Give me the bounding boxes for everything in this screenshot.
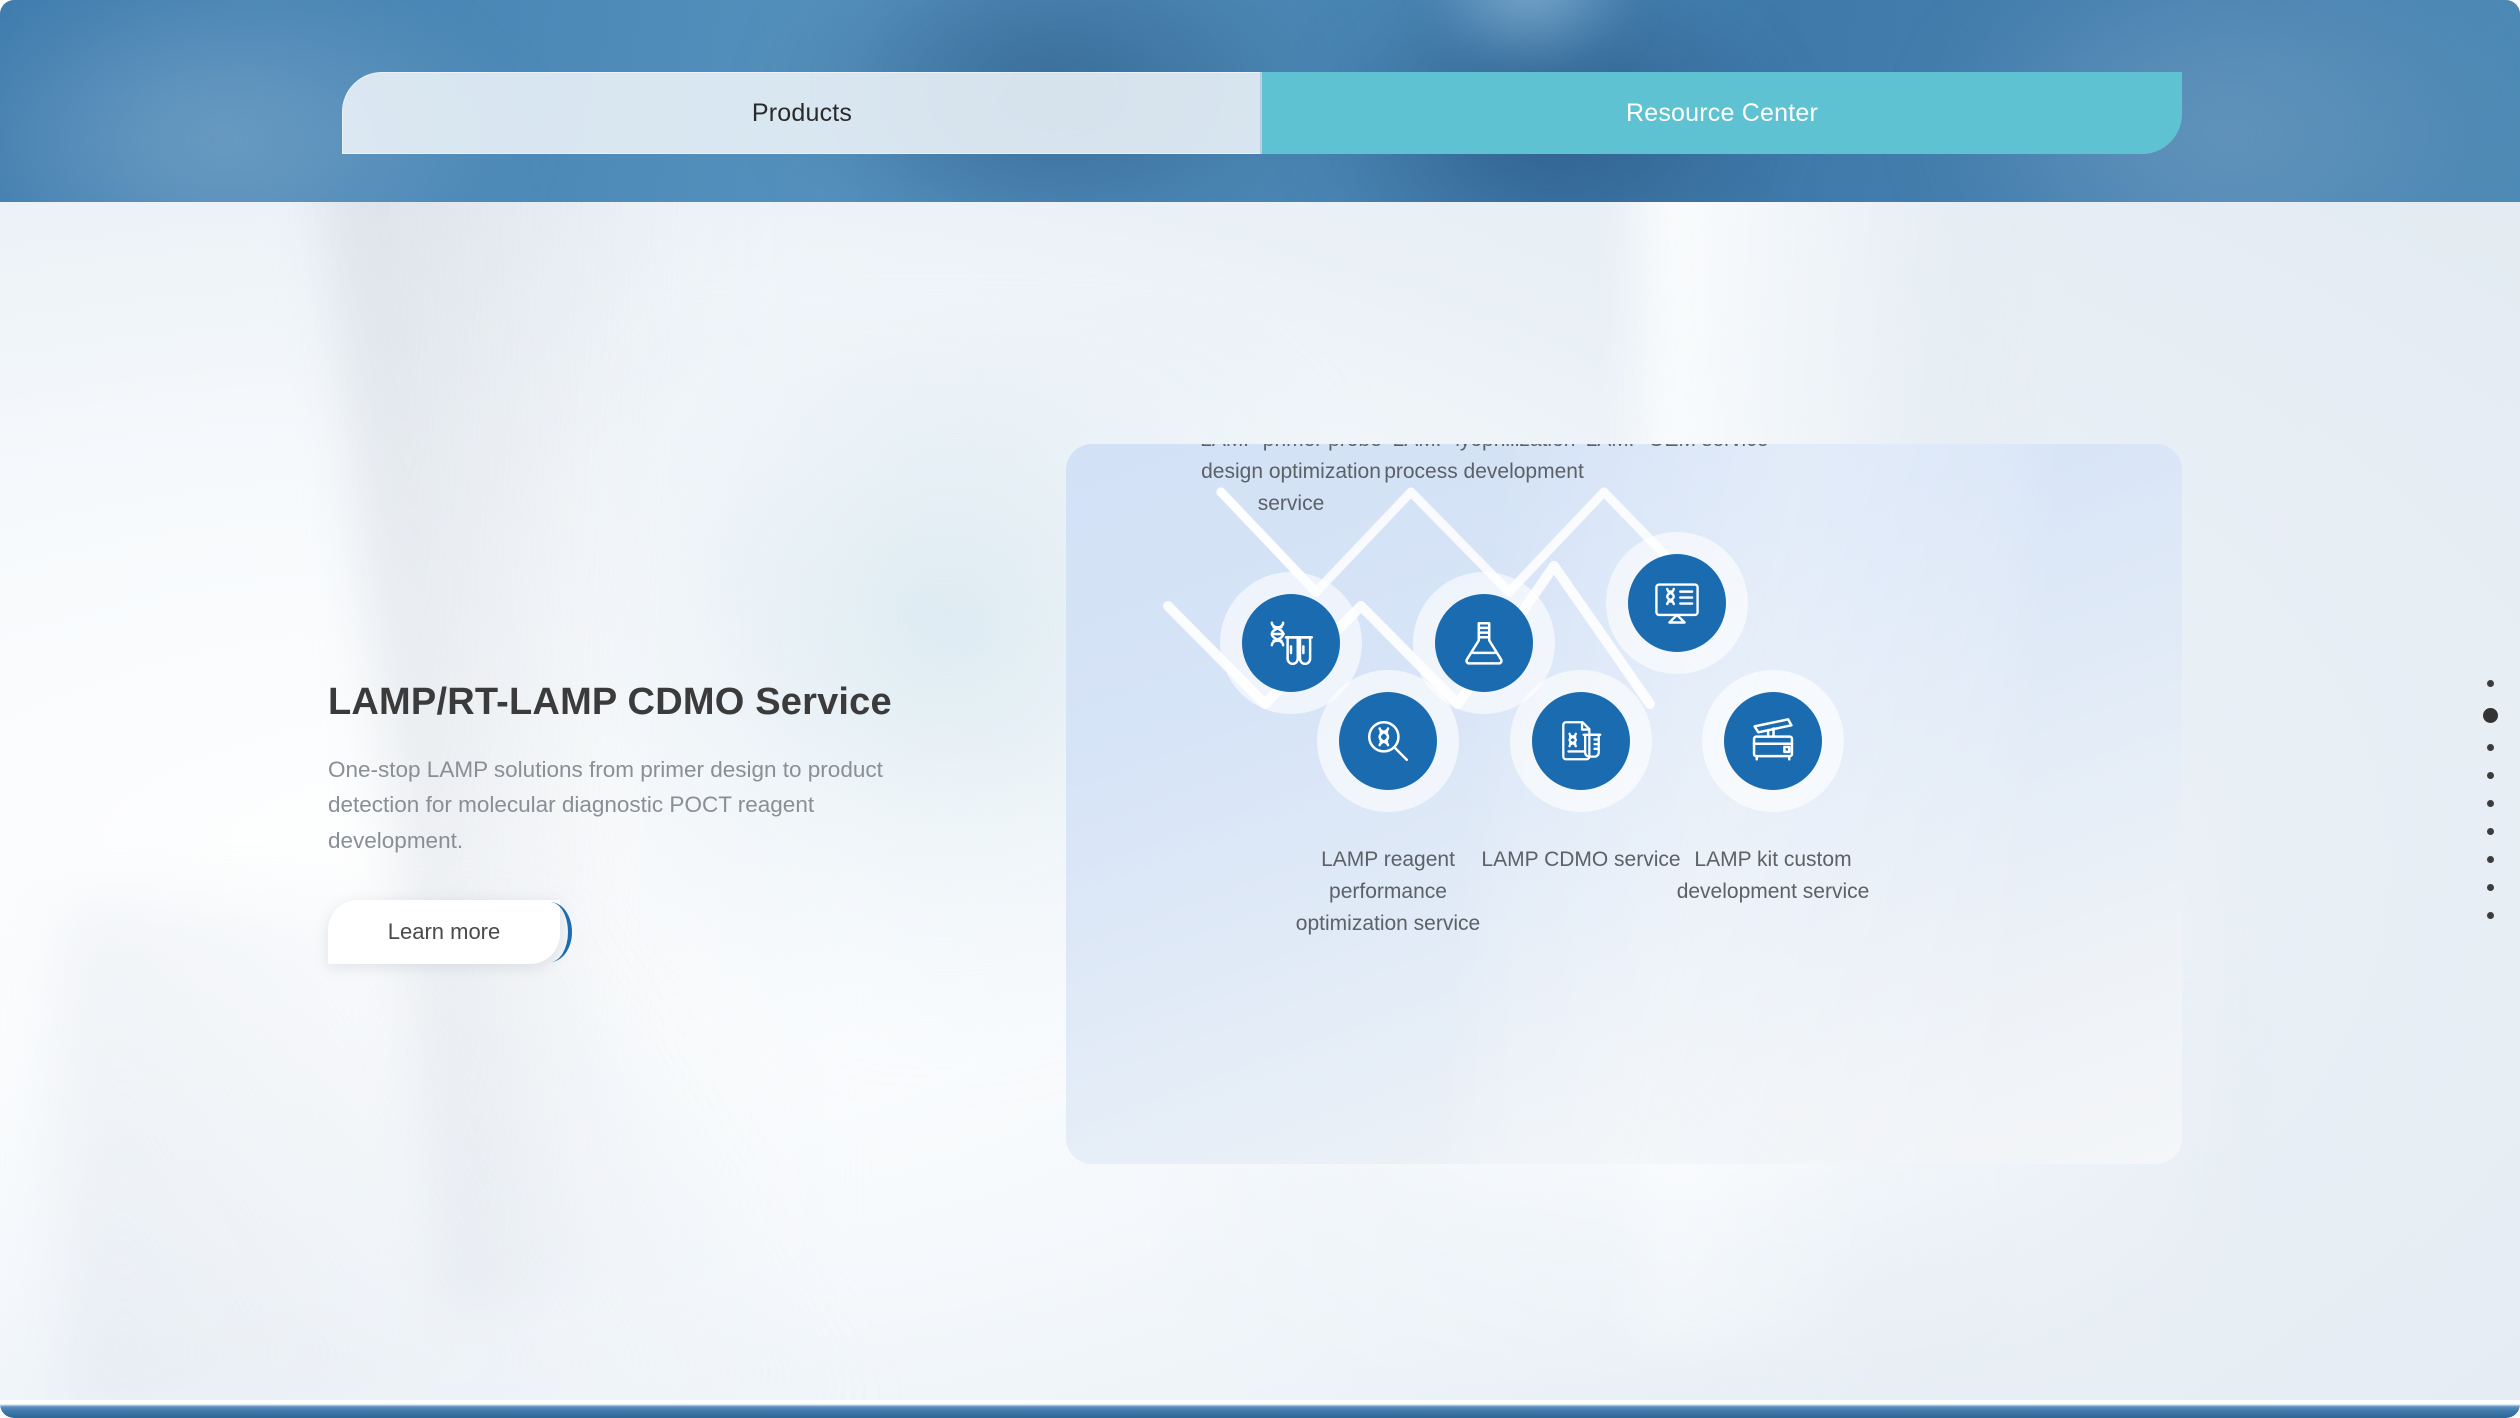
node-label-lamp-oem: LAMP OEM service bbox=[1562, 444, 1792, 456]
node-label-text: LAMP lyophilization process development bbox=[1384, 444, 1584, 483]
pagination-dot-4[interactable] bbox=[2487, 772, 2494, 779]
node-label-text: LAMP primer probe design optimization se… bbox=[1200, 444, 1382, 515]
node-label-text: LAMP CDMO service bbox=[1481, 848, 1680, 871]
dna-magnifier-icon bbox=[1363, 716, 1413, 766]
node-lamp-primer-probe-design[interactable] bbox=[1242, 594, 1340, 692]
node-label-text: LAMP reagent performance optimization se… bbox=[1296, 848, 1480, 935]
hero-text-block: LAMP/RT-LAMP CDMO Service One-stop LAMP … bbox=[328, 680, 988, 964]
node-lamp-lyophilization[interactable] bbox=[1435, 594, 1533, 692]
tab-products-label: Products bbox=[752, 99, 852, 128]
arc-accent-icon bbox=[528, 902, 572, 962]
pagination-dot-6[interactable] bbox=[2487, 828, 2494, 835]
pagination-dot-5[interactable] bbox=[2487, 800, 2494, 807]
service-diagram-card: LAMP primer probe design optimization se… bbox=[1066, 444, 2182, 1164]
pagination-dot-9[interactable] bbox=[2487, 912, 2494, 919]
pagination-dot-2[interactable] bbox=[2483, 708, 2498, 723]
node-connector-lines-main bbox=[1066, 444, 2182, 1164]
pagination-dot-7[interactable] bbox=[2487, 856, 2494, 863]
node-lamp-cdmo[interactable] bbox=[1532, 692, 1630, 790]
node-lamp-kit-custom[interactable] bbox=[1724, 692, 1822, 790]
learn-more-label: Learn more bbox=[388, 919, 501, 945]
tab-bar: Products Resource Center bbox=[342, 72, 2182, 154]
tab-resource-center-label: Resource Center bbox=[1626, 99, 1818, 128]
pagination-dot-1[interactable] bbox=[2487, 680, 2494, 687]
node-label-text: LAMP OEM service bbox=[1586, 444, 1769, 451]
open-kit-box-icon bbox=[1747, 715, 1799, 767]
tab-resource-center[interactable]: Resource Center bbox=[1262, 72, 2182, 154]
learn-more-button[interactable]: Learn more bbox=[328, 900, 560, 964]
dna-report-icon bbox=[1651, 577, 1703, 629]
node-lamp-oem[interactable] bbox=[1628, 554, 1726, 652]
node-lamp-reagent-performance[interactable] bbox=[1339, 692, 1437, 790]
page-root: Products Resource Center LAMP/RT-LAMP CD… bbox=[0, 0, 2520, 1418]
pagination-dot-3[interactable] bbox=[2487, 744, 2494, 751]
node-label-lamp-kit-custom: LAMP kit custom development service bbox=[1658, 844, 1888, 908]
node-label-text: LAMP kit custom development service bbox=[1677, 848, 1870, 903]
diagram-inner: LAMP primer probe design optimization se… bbox=[1066, 444, 2182, 1164]
dna-test-tubes-icon bbox=[1264, 616, 1318, 670]
hero-description: One-stop LAMP solutions from primer desi… bbox=[328, 752, 928, 859]
bottom-edge-strip bbox=[0, 1400, 2520, 1418]
photo-blur-shape-5 bbox=[60, 900, 960, 1402]
carousel-pagination bbox=[2483, 680, 2498, 919]
pagination-dot-8[interactable] bbox=[2487, 884, 2494, 891]
flask-icon bbox=[1459, 618, 1509, 668]
dna-document-beaker-icon bbox=[1556, 716, 1606, 766]
page-title: LAMP/RT-LAMP CDMO Service bbox=[328, 680, 988, 726]
tab-products[interactable]: Products bbox=[342, 72, 1262, 154]
